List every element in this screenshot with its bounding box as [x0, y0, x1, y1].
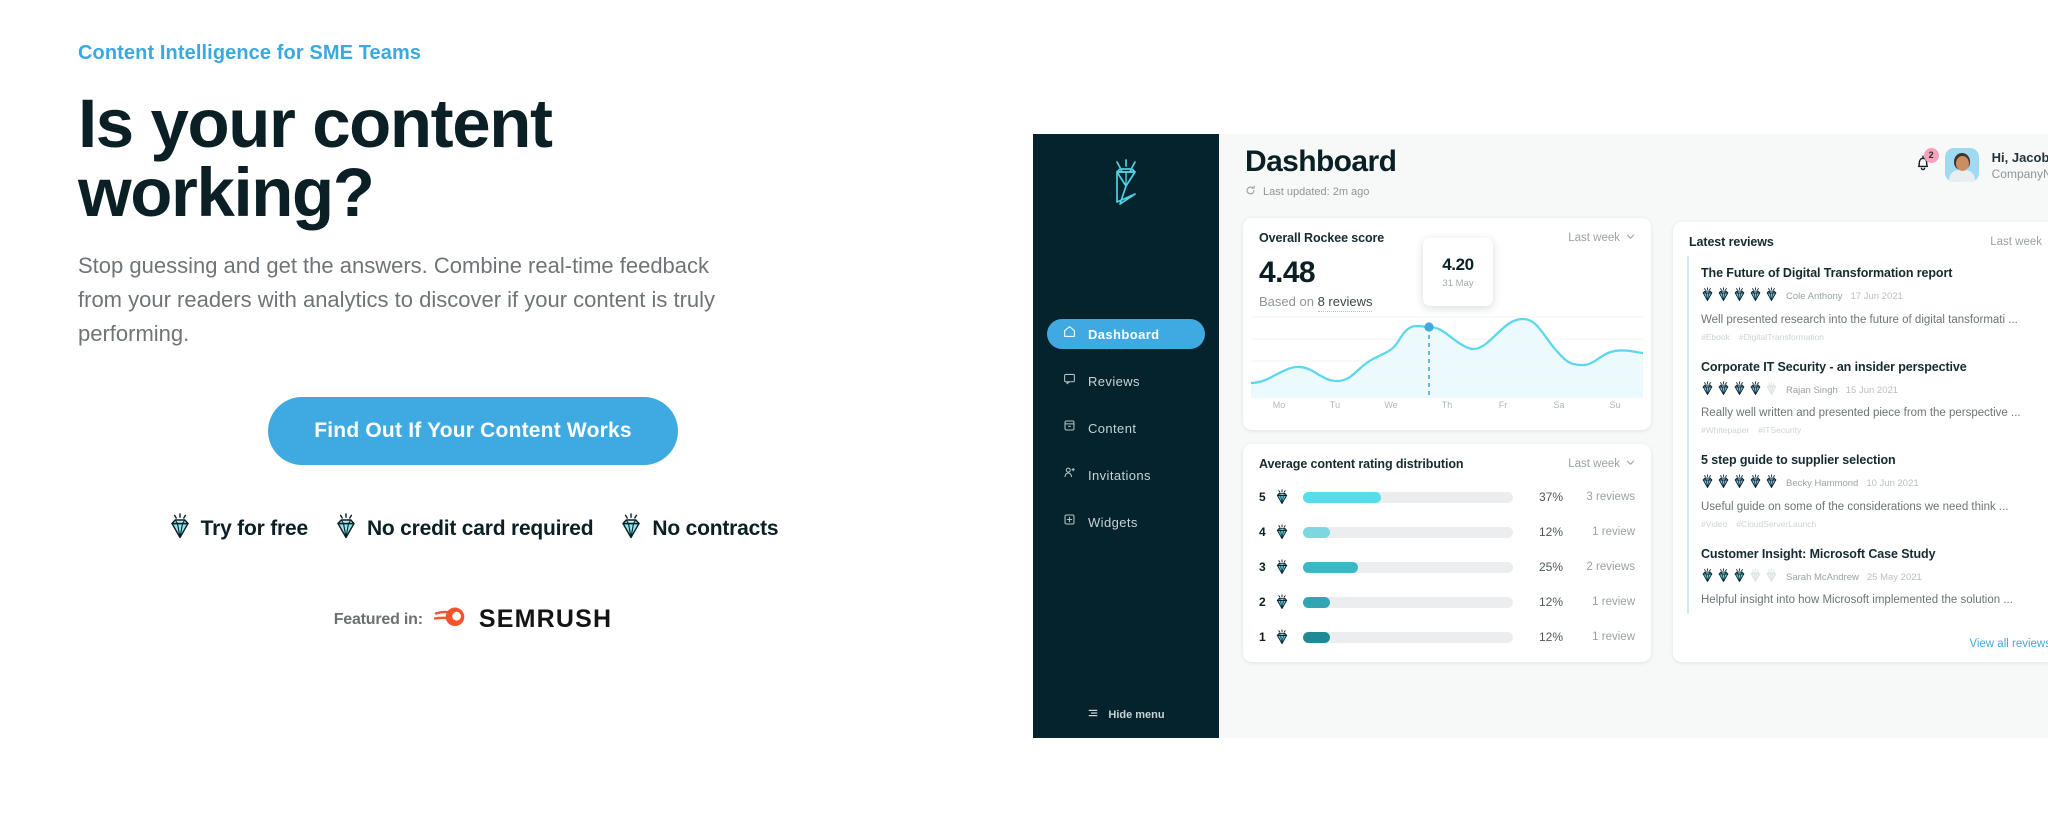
diamond-icon — [1749, 568, 1762, 588]
diamond-icon — [1749, 474, 1762, 494]
review-author: Cole Anthony — [1786, 291, 1843, 302]
card-header: Latest reviews Last week — [1673, 222, 2048, 249]
diamond-icon — [168, 513, 192, 544]
review-rating — [1701, 568, 1778, 588]
rating-number: 3 — [1259, 560, 1271, 574]
review-author: Sarah McAndrew — [1786, 572, 1859, 583]
sidebar-item-label: Invitations — [1088, 468, 1151, 483]
rating-percent: 25% — [1523, 560, 1563, 574]
hero-subcopy: Stop guessing and get the answers. Combi… — [78, 249, 733, 351]
chart-x-axis: Mo Tu We Th Fr Sa Su — [1251, 400, 1643, 410]
rating-review-count: 1 review — [1563, 526, 1635, 538]
diamond-icon — [1733, 474, 1746, 494]
mockup-sidebar: Dashboard Reviews Content — [1033, 134, 1219, 738]
review-title: Customer Insight: Microsoft Case Study — [1701, 547, 2048, 561]
refresh-icon[interactable] — [1245, 183, 1256, 201]
home-icon — [1063, 325, 1076, 343]
diamond-icon — [1271, 489, 1293, 505]
badge-label: No contracts — [652, 517, 778, 541]
diamond-icon — [1717, 474, 1730, 494]
period-filter-dropdown[interactable]: Last week — [1568, 232, 1635, 244]
period-filter-label: Last week — [1568, 232, 1620, 244]
diamond-icon — [1701, 381, 1714, 401]
rating-percent: 12% — [1523, 630, 1563, 644]
card-title: Latest reviews — [1689, 235, 1774, 249]
review-date: 25 May 2021 — [1867, 572, 1922, 583]
view-all-reviews-link[interactable]: View all reviews — [1969, 638, 2048, 650]
diamond-icon — [1717, 287, 1730, 307]
review-tag[interactable]: #Ebook — [1701, 332, 1730, 342]
plus-square-icon — [1063, 513, 1076, 531]
rating-review-count: 3 reviews — [1563, 491, 1635, 503]
sidebar-item-content[interactable]: Content — [1047, 413, 1205, 443]
dashboard-title: Dashboard — [1245, 145, 1396, 179]
diamond-icon — [1733, 381, 1746, 401]
diamond-icon — [1271, 524, 1293, 540]
review-tags: #Whitepaper#ITSecurity — [1701, 425, 2048, 435]
sidebar-item-label: Content — [1088, 421, 1136, 436]
review-tags: #Ebook#DigitalTransformation — [1701, 332, 2048, 342]
rating-bar-track — [1303, 632, 1513, 643]
rating-bar-track — [1303, 492, 1513, 503]
card-header: Average content rating distribution Last… — [1243, 444, 1651, 471]
find-out-button[interactable]: Find Out If Your Content Works — [268, 397, 677, 465]
featured-in-label: Featured in: — [334, 611, 423, 629]
review-body: Really well written and presented piece … — [1701, 407, 2048, 419]
rockee-diamond-logo-icon — [1099, 152, 1153, 219]
chat-icon — [1063, 372, 1076, 390]
diamond-icon — [1749, 381, 1762, 401]
review-tag[interactable]: #DigitalTransformation — [1739, 332, 1824, 342]
score-value: 4.48 — [1259, 256, 1315, 290]
diamond-icon — [1749, 287, 1762, 307]
sidebar-item-label: Dashboard — [1088, 327, 1160, 342]
review-item[interactable]: 5 step guide to supplier selectionBecky … — [1687, 443, 2048, 537]
review-tags: #Video#CloudServerLaunch — [1701, 519, 2048, 529]
distribution-row: 325%2 reviews — [1243, 556, 1651, 578]
page-title: Is your content working? — [78, 89, 638, 227]
user-plus-icon — [1063, 466, 1076, 484]
rating-distribution-card: Average content rating distribution Last… — [1243, 444, 1651, 662]
hero-section: Content Intelligence for SME Teams Is yo… — [78, 42, 838, 635]
review-meta: Becky Hammond10 Jun 2021 — [1701, 474, 2048, 494]
x-tick: Tu — [1307, 400, 1363, 410]
dashboard-mockup: Dashboard Reviews Content — [1033, 134, 2048, 738]
sidebar-item-label: Reviews — [1088, 374, 1140, 389]
mockup-topbar: Dashboard Last updated: 2m ago 2 Hi, Jac… — [1219, 134, 2048, 202]
x-tick: Th — [1419, 400, 1475, 410]
badge-no-contracts: No contracts — [619, 513, 778, 544]
badge-label: No credit card required — [367, 517, 593, 541]
review-body: Useful guide on some of the consideratio… — [1701, 501, 2048, 513]
review-date: 15 Jun 2021 — [1846, 385, 1898, 396]
badge-label: Try for free — [201, 517, 308, 541]
x-tick: Sa — [1531, 400, 1587, 410]
user-area: 2 Hi, Jacob CompanyName — [1914, 148, 2048, 182]
diamond-icon — [1717, 568, 1730, 588]
rating-bar-fill — [1303, 562, 1358, 573]
semrush-wordmark: SEMRUSH — [479, 605, 612, 634]
x-tick: Su — [1587, 400, 1643, 410]
review-rating — [1701, 381, 1778, 401]
chart-tooltip: 4.20 31 May — [1423, 238, 1493, 306]
diamond-icon — [1271, 594, 1293, 610]
rating-percent: 37% — [1523, 490, 1563, 504]
diamond-icon — [619, 513, 643, 544]
period-filter-dropdown[interactable]: Last week — [1568, 458, 1635, 470]
diamond-icon — [1765, 381, 1778, 401]
notification-badge: 2 — [1924, 148, 1939, 163]
user-greeting: Hi, Jacob — [1992, 150, 2048, 165]
diamond-icon — [1701, 287, 1714, 307]
score-line-chart[interactable] — [1251, 313, 1643, 398]
diamond-icon — [1733, 568, 1746, 588]
diamond-icon — [1701, 474, 1714, 494]
rating-bar-track — [1303, 597, 1513, 608]
diamond-icon — [1271, 559, 1293, 575]
rating-percent: 12% — [1523, 595, 1563, 609]
x-tick: Fr — [1475, 400, 1531, 410]
hide-menu-label: Hide menu — [1108, 709, 1164, 721]
card-title: Average content rating distribution — [1259, 457, 1463, 471]
review-item[interactable]: Corporate IT Security - an insider persp… — [1687, 350, 2048, 444]
period-filter-label: Last week — [1568, 458, 1620, 470]
review-title: The Future of Digital Transformation rep… — [1701, 266, 2048, 280]
last-updated-text: Last updated: 2m ago — [1263, 186, 1369, 198]
review-meta: Sarah McAndrew25 May 2021 — [1701, 568, 2048, 588]
review-body: Well presented research into the future … — [1701, 314, 2048, 326]
semrush-logo-icon — [434, 604, 468, 635]
diamond-icon — [1765, 474, 1778, 494]
landing-page: Content Intelligence for SME Teams Is yo… — [0, 0, 2048, 831]
tooltip-value: 4.20 — [1442, 255, 1474, 275]
tooltip-date: 31 May — [1442, 278, 1473, 289]
notifications-button[interactable]: 2 — [1914, 154, 1932, 177]
review-tag[interactable]: #Whitepaper — [1701, 425, 1749, 435]
review-body: Helpful insight into how Microsoft imple… — [1701, 594, 2048, 606]
cta-container: Find Out If Your Content Works — [78, 397, 868, 465]
review-tag[interactable]: #Video — [1701, 519, 1727, 529]
review-item[interactable]: Customer Insight: Microsoft Case StudySa… — [1687, 537, 2048, 615]
menu-collapse-icon — [1087, 706, 1099, 724]
sidebar-item-invitations[interactable]: Invitations — [1047, 460, 1205, 490]
reviews-list: The Future of Digital Transformation rep… — [1673, 256, 2048, 614]
rating-percent: 12% — [1523, 525, 1563, 539]
diamond-icon — [1765, 287, 1778, 307]
distribution-row: 212%1 review — [1243, 591, 1651, 613]
period-filter-label: Last week — [1990, 236, 2042, 248]
review-meta: Cole Anthony17 Jun 2021 — [1701, 287, 2048, 307]
score-basis-prefix: Based on — [1259, 294, 1314, 309]
sidebar-item-dashboard[interactable]: Dashboard — [1047, 319, 1205, 349]
rating-bar-fill — [1303, 632, 1330, 643]
overall-score-card: Overall Rockee score Last week 4.48 Base… — [1243, 218, 1651, 430]
review-date: 17 Jun 2021 — [1851, 291, 1903, 302]
user-greeting-row: Hi, Jacob — [1992, 150, 2048, 165]
rating-bar-fill — [1303, 492, 1381, 503]
rating-number: 1 — [1259, 630, 1271, 644]
rating-bar-track — [1303, 562, 1513, 573]
diamond-icon — [1271, 629, 1293, 645]
x-tick: We — [1363, 400, 1419, 410]
card-title: Overall Rockee score — [1259, 231, 1384, 245]
rating-bar-fill — [1303, 527, 1330, 538]
distribution-rows: 537%3 reviews412%1 review325%2 reviews21… — [1243, 486, 1651, 661]
review-author: Becky Hammond — [1786, 478, 1858, 489]
score-basis-value[interactable]: 8 reviews — [1318, 294, 1373, 312]
rating-number: 2 — [1259, 595, 1271, 609]
chevron-down-icon — [1626, 458, 1635, 470]
review-meta: Rajan Singh15 Jun 2021 — [1701, 381, 2048, 401]
chevron-down-icon — [1626, 232, 1635, 244]
rating-bar-fill — [1303, 597, 1330, 608]
review-author: Rajan Singh — [1786, 385, 1838, 396]
badge-no-credit-card: No credit card required — [334, 513, 593, 544]
score-basis: Based on 8 reviews — [1259, 294, 1372, 309]
review-rating — [1701, 287, 1778, 307]
rating-bar-track — [1303, 527, 1513, 538]
rating-review-count: 1 review — [1563, 596, 1635, 608]
review-date: 10 Jun 2021 — [1866, 478, 1918, 489]
hero-eyebrow: Content Intelligence for SME Teams — [78, 42, 838, 65]
distribution-row: 112%1 review — [1243, 626, 1651, 648]
diamond-icon — [1733, 287, 1746, 307]
diamond-icon — [1717, 381, 1730, 401]
review-title: 5 step guide to supplier selection — [1701, 453, 2048, 467]
company-name: CompanyName — [1992, 167, 2048, 181]
period-filter-dropdown[interactable]: Last week — [1990, 236, 2048, 248]
rating-number: 5 — [1259, 490, 1271, 504]
feature-badges: Try for free No credit card required — [78, 513, 868, 544]
sidebar-item-label: Widgets — [1088, 515, 1138, 530]
review-tag[interactable]: #ITSecurity — [1758, 425, 1801, 435]
distribution-row: 537%3 reviews — [1243, 486, 1651, 508]
last-updated: Last updated: 2m ago — [1245, 183, 1369, 201]
x-tick: Mo — [1251, 400, 1307, 410]
diamond-icon — [1701, 568, 1714, 588]
rating-review-count: 2 reviews — [1563, 561, 1635, 573]
review-item[interactable]: The Future of Digital Transformation rep… — [1687, 256, 2048, 350]
hide-menu-button[interactable]: Hide menu — [1033, 706, 1219, 724]
badge-try-for-free: Try for free — [168, 513, 308, 544]
featured-in: Featured in: SEMRUSH — [78, 604, 868, 635]
rating-review-count: 1 review — [1563, 631, 1635, 643]
sidebar-item-widgets[interactable]: Widgets — [1047, 507, 1205, 537]
sidebar-nav: Dashboard Reviews Content — [1033, 319, 1219, 554]
archive-icon — [1063, 419, 1076, 437]
rating-number: 4 — [1259, 525, 1271, 539]
review-rating — [1701, 474, 1778, 494]
review-tag[interactable]: #CloudServerLaunch — [1736, 519, 1816, 529]
diamond-icon — [334, 513, 358, 544]
diamond-icon — [1765, 568, 1778, 588]
latest-reviews-card: Latest reviews Last week The Future of D… — [1673, 222, 2048, 662]
distribution-row: 412%1 review — [1243, 521, 1651, 543]
user-menu[interactable]: Hi, Jacob CompanyName — [1992, 150, 2048, 181]
avatar[interactable] — [1945, 148, 1979, 182]
review-title: Corporate IT Security - an insider persp… — [1701, 360, 2048, 374]
sidebar-item-reviews[interactable]: Reviews — [1047, 366, 1205, 396]
